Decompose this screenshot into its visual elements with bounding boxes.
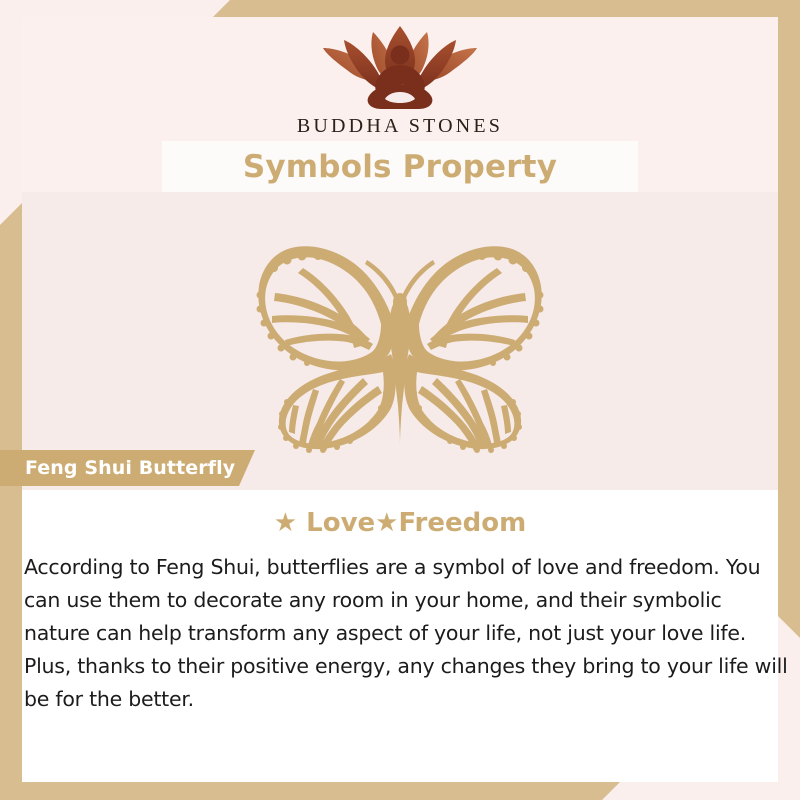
page-title: Symbols Property [243, 149, 557, 185]
product-info-graphic: BUDDHA STONES Symbols Property [0, 0, 800, 800]
description-paragraph: According to Feng Shui, butterflies are … [24, 551, 788, 716]
title-banner: Symbols Property [162, 141, 638, 192]
feng-shui-butterfly-ribbon: Feng Shui Butterfly [0, 450, 255, 486]
frame-band-left [0, 203, 22, 783]
butterfly-illustration [215, 238, 585, 453]
butterfly-icon [215, 238, 585, 453]
brand-wordmark: BUDDHA STONES [0, 115, 800, 138]
lotus-meditation-icon [305, 18, 495, 113]
frame-band-top [213, 0, 800, 17]
subheading: ★ Love★Freedom [0, 508, 800, 538]
ribbon-label: Feng Shui Butterfly [0, 457, 235, 479]
brand-logo: BUDDHA STONES [0, 18, 800, 138]
frame-band-bottom [0, 782, 620, 800]
